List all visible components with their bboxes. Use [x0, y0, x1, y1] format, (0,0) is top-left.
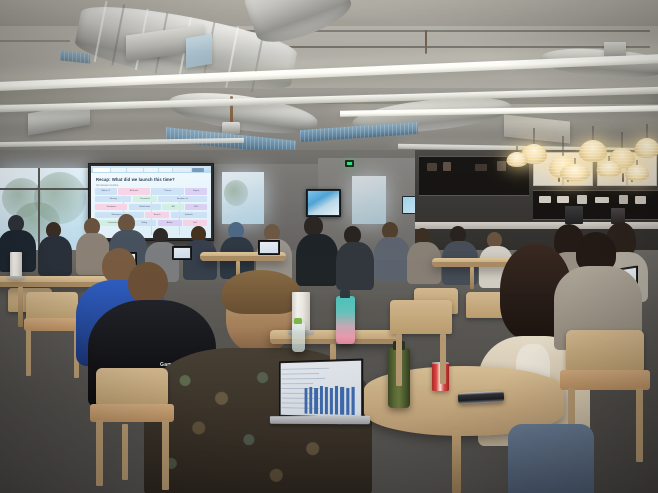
- return-air-grille: [60, 50, 90, 63]
- roadmap-cell: Editor v2: [95, 188, 117, 195]
- linear-light-fixture: [0, 54, 658, 92]
- chart-bar: [325, 387, 328, 414]
- roadmap-cell: SSO: [185, 204, 207, 211]
- roadmap-row: Workspace rolesSearchEmbeds: [95, 212, 207, 219]
- roadmap-row: Editor v2AI blocksThemesExport: [95, 188, 207, 195]
- chart-bar: [310, 387, 313, 414]
- chair-leg: [162, 420, 169, 490]
- roadmap-cell: Search: [145, 212, 169, 219]
- chair-leg: [26, 330, 31, 376]
- chair[interactable]: [566, 330, 644, 374]
- slide-subtitle: Q3 release timeline: [96, 184, 118, 187]
- bottle-cap: [340, 290, 350, 298]
- chair-leg: [636, 388, 643, 462]
- duct-fitting: [222, 122, 240, 134]
- chart-bar: [330, 388, 333, 414]
- chart-bar: [351, 387, 354, 415]
- roadmap-cell: Analytics v1: [158, 196, 207, 203]
- bottle-cap: [294, 318, 302, 324]
- browser-tab[interactable]: [173, 168, 191, 172]
- table-leg: [452, 430, 461, 493]
- chart-bar: [315, 388, 318, 414]
- electrical-conduit: [0, 40, 70, 42]
- chair[interactable]: [96, 368, 168, 408]
- roadmap-cell: Templates: [95, 204, 127, 211]
- chair-seat: [560, 370, 650, 390]
- paper-towel-roll[interactable]: [10, 252, 22, 278]
- browser-tab-bar: [91, 166, 211, 173]
- pendant-light: [624, 160, 650, 188]
- chart-bar: [335, 386, 338, 415]
- linear-light-fixture: [0, 138, 244, 147]
- laptop-chart-display: [281, 361, 361, 418]
- chair-leg: [122, 424, 128, 480]
- browser-tab[interactable]: [192, 168, 204, 172]
- chart-bar: [340, 387, 343, 415]
- browser-tab[interactable]: [159, 168, 172, 172]
- table-leg: [470, 267, 474, 289]
- roadmap-cell: Comments: [133, 196, 157, 203]
- clear-plastic-bottle[interactable]: [292, 322, 305, 352]
- espresso-machine[interactable]: [565, 206, 583, 224]
- chart-bar: [320, 386, 323, 414]
- browser-tab[interactable]: [111, 168, 126, 172]
- chair[interactable]: [390, 300, 452, 334]
- sprinkler-pipe: [425, 30, 427, 54]
- duct-fitting: [604, 42, 626, 56]
- roadmap-row: SharingCommentsAnalytics v1: [95, 196, 207, 203]
- roadmap-grid: Editor v2AI blocksThemesExportSharingCom…: [95, 188, 207, 235]
- roadmap-cell: API: [162, 204, 184, 211]
- chair-seat: [24, 318, 82, 331]
- pendant-light: [560, 158, 590, 188]
- gradient-water-bottle[interactable]: [336, 296, 355, 344]
- table-leg: [18, 287, 23, 327]
- roadmap-row: TemplatesMobile betaAPISSO: [95, 204, 207, 211]
- browser-tab[interactable]: [144, 168, 158, 172]
- chair-leg: [96, 420, 103, 486]
- roadmap-cell: Mobile beta: [129, 204, 161, 211]
- roadmap-cell: Embeds: [171, 212, 207, 219]
- office-meeting-photo: Recap: What did we launch this time? Q3 …: [0, 0, 658, 493]
- person-legs: [508, 424, 594, 493]
- dish-shelving: [533, 190, 658, 220]
- wall-tv-left: [306, 189, 341, 217]
- laptop-base[interactable]: [270, 416, 370, 425]
- roadmap-cell: Perf: [183, 220, 207, 227]
- browser-tab[interactable]: [127, 168, 143, 172]
- chart-bar: [346, 388, 349, 414]
- roadmap-cell: Sharing: [95, 196, 131, 203]
- window-right: [352, 176, 386, 224]
- exit-sign: [345, 160, 354, 167]
- laptop[interactable]: [172, 246, 192, 260]
- laptop[interactable]: [258, 240, 280, 255]
- chair-leg: [440, 334, 446, 384]
- chair-leg: [396, 334, 402, 386]
- duct-diffuser: [186, 34, 212, 69]
- roll-base: [7, 276, 25, 280]
- roadmap-row: OnboardingBillingAdminPerf: [95, 220, 207, 227]
- roadmap-cell: Admin: [158, 220, 182, 227]
- browser-tab[interactable]: [93, 168, 110, 172]
- chart-bar: [305, 388, 308, 413]
- roadmap-cell: Themes: [152, 188, 184, 195]
- roadmap-cell: AI blocks: [118, 188, 150, 195]
- roadmap-cell: Export: [185, 188, 207, 195]
- roadmap-cell: Billing: [132, 220, 156, 227]
- laptop-foreground[interactable]: [279, 358, 363, 419]
- slide-title: Recap: What did we launch this time?: [96, 177, 175, 182]
- window-center: [222, 172, 264, 224]
- pendant-light: [506, 146, 528, 174]
- pendant-light: [596, 156, 622, 184]
